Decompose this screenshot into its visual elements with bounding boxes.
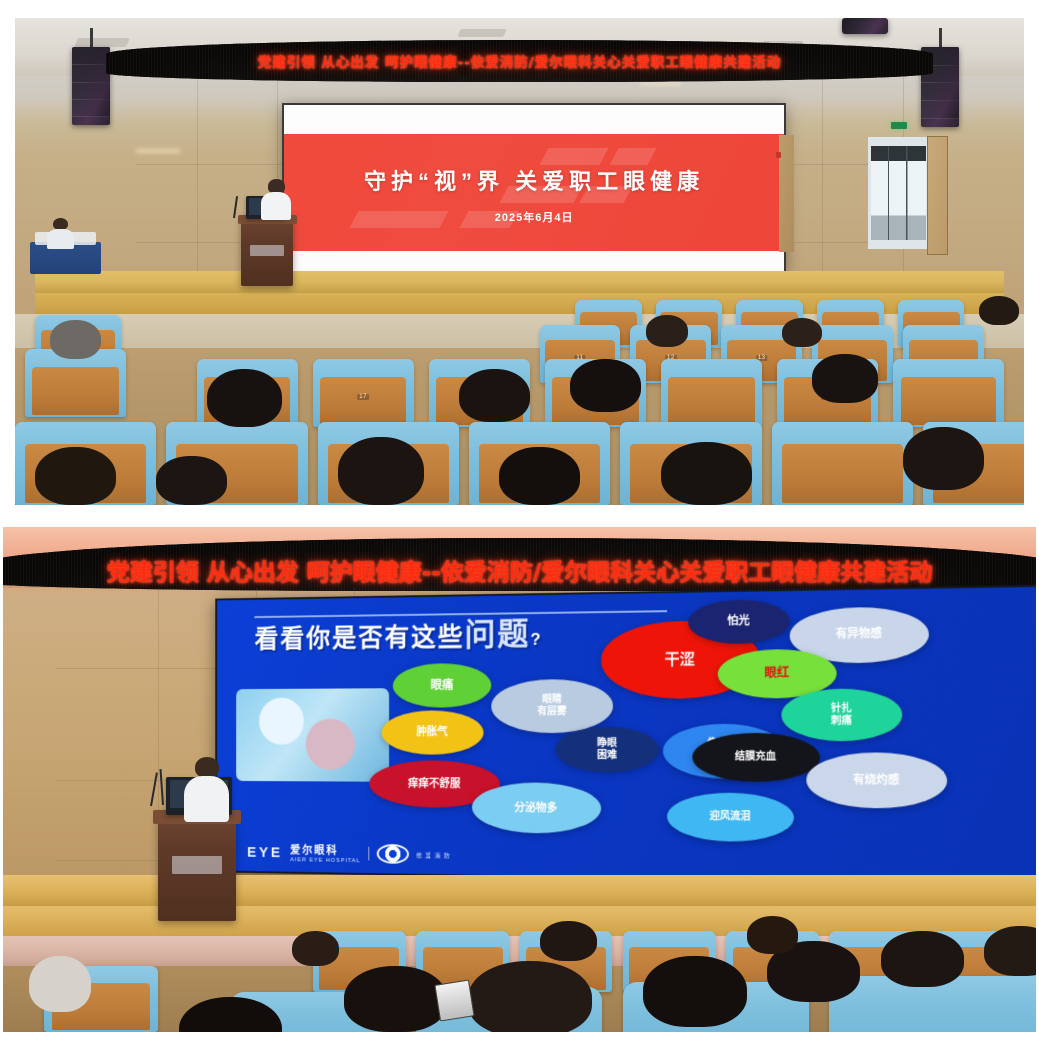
led-banner-top: 党建引领 从心出发 呵护眼健康--依爱消防/爱尔眼科关心关爱职工眼健康共建活动 [106, 40, 933, 82]
event-photo-bottom: 党建引领 从心出发 呵护眼健康--依爱消防/爱尔眼科关心关爱职工眼健康共建活动 … [3, 527, 1036, 1032]
partner-name: 依 爱 消 防 [416, 850, 450, 859]
slide-date: 2025年6月4日 [284, 209, 783, 225]
ceiling-speaker-center [842, 18, 888, 34]
slide-title-bottom: 看看你是否有这些问题? [255, 609, 543, 657]
bubble-hard-to-open-eyes: 睁眼 困难 [556, 726, 659, 771]
door-panel [927, 136, 948, 255]
bubble-burning: 有烧灼感 [807, 752, 947, 808]
speaker-array-left [72, 47, 110, 125]
aier-en-subtitle: AIER EYE HOSPITAL [290, 857, 360, 864]
seat-number: 17 [357, 394, 369, 400]
eye-mark-icon [377, 844, 409, 864]
slide-header-bar [284, 105, 783, 134]
bubble-eye-pain: 眼痛 [393, 662, 492, 707]
presentation-screen-top: CETC 加压奋进 争创一流 守护“视”界 关爱职工眼健康 2025年6月4日 [282, 103, 785, 275]
bubble-conjunctival-congestion: 结膜充血 [692, 732, 820, 781]
bubble-discharge: 分泌物多 [472, 782, 601, 834]
bubble-photophobia: 怕光 [688, 599, 790, 643]
aier-cn-name: 爱尔眼科 [290, 842, 360, 858]
presenter [261, 179, 291, 220]
staff-left [47, 218, 73, 250]
stage-platform [35, 271, 1004, 292]
presentation-screen-bottom: 看看你是否有这些问题? 眼痛 眼睛 有层雾 肿胀气 痒痒不舒服 睁眼 困难 分泌… [215, 584, 1036, 885]
eye-wordmark: EYE [247, 844, 283, 861]
podium-top [241, 215, 293, 286]
eye-exam-photo [236, 688, 389, 782]
open-doorway [868, 137, 931, 249]
led-banner-text-bottom: 党建引领 从心出发 呵护眼健康--依爱消防/爱尔眼科关心关爱职工眼健康共建活动 [3, 553, 1036, 587]
presenter-bottom [184, 757, 229, 823]
logo-divider [368, 847, 369, 861]
slide-title-top: 守护“视”界 关爱职工眼健康 [284, 164, 783, 196]
bubble-swelling: 肿胀气 [381, 710, 483, 755]
exit-sign-icon-left [776, 152, 781, 158]
exit-sign-icon [891, 122, 907, 129]
led-banner-text-top: 党建引领 从心出发 呵护眼健康--依爱消防/爱尔眼科关心关爱职工眼健康共建活动 [106, 51, 933, 71]
slide-body: 守护“视”界 关爱职工眼健康 2025年6月4日 [284, 134, 783, 252]
aier-eye-logo: EYE 爱尔眼科 AIER EYE HOSPITAL 依 爱 消 防 [247, 841, 450, 865]
led-banner-bottom: 党建引领 从心出发 呵护眼健康--依爱消防/爱尔眼科关心关爱职工眼健康共建活动 [3, 538, 1036, 591]
podium-bottom [158, 810, 237, 921]
slide-footer-bar [284, 251, 783, 273]
bubble-tearing-in-wind: 迎风流泪 [667, 792, 794, 842]
photo-collage-page: 党建引领 从心出发 呵护眼健康--依爱消防/爱尔眼科关心关爱职工眼健康共建活动 … [0, 0, 1039, 1039]
bubble-foggy-vision: 眼睛 有层雾 [492, 678, 614, 732]
event-photo-top: 党建引领 从心出发 呵护眼健康--依爱消防/爱尔眼科关心关爱职工眼健康共建活动 … [15, 18, 1024, 505]
bubble-stabbing-pain: 针扎 刺痛 [781, 688, 902, 741]
phone-screen [434, 979, 474, 1021]
